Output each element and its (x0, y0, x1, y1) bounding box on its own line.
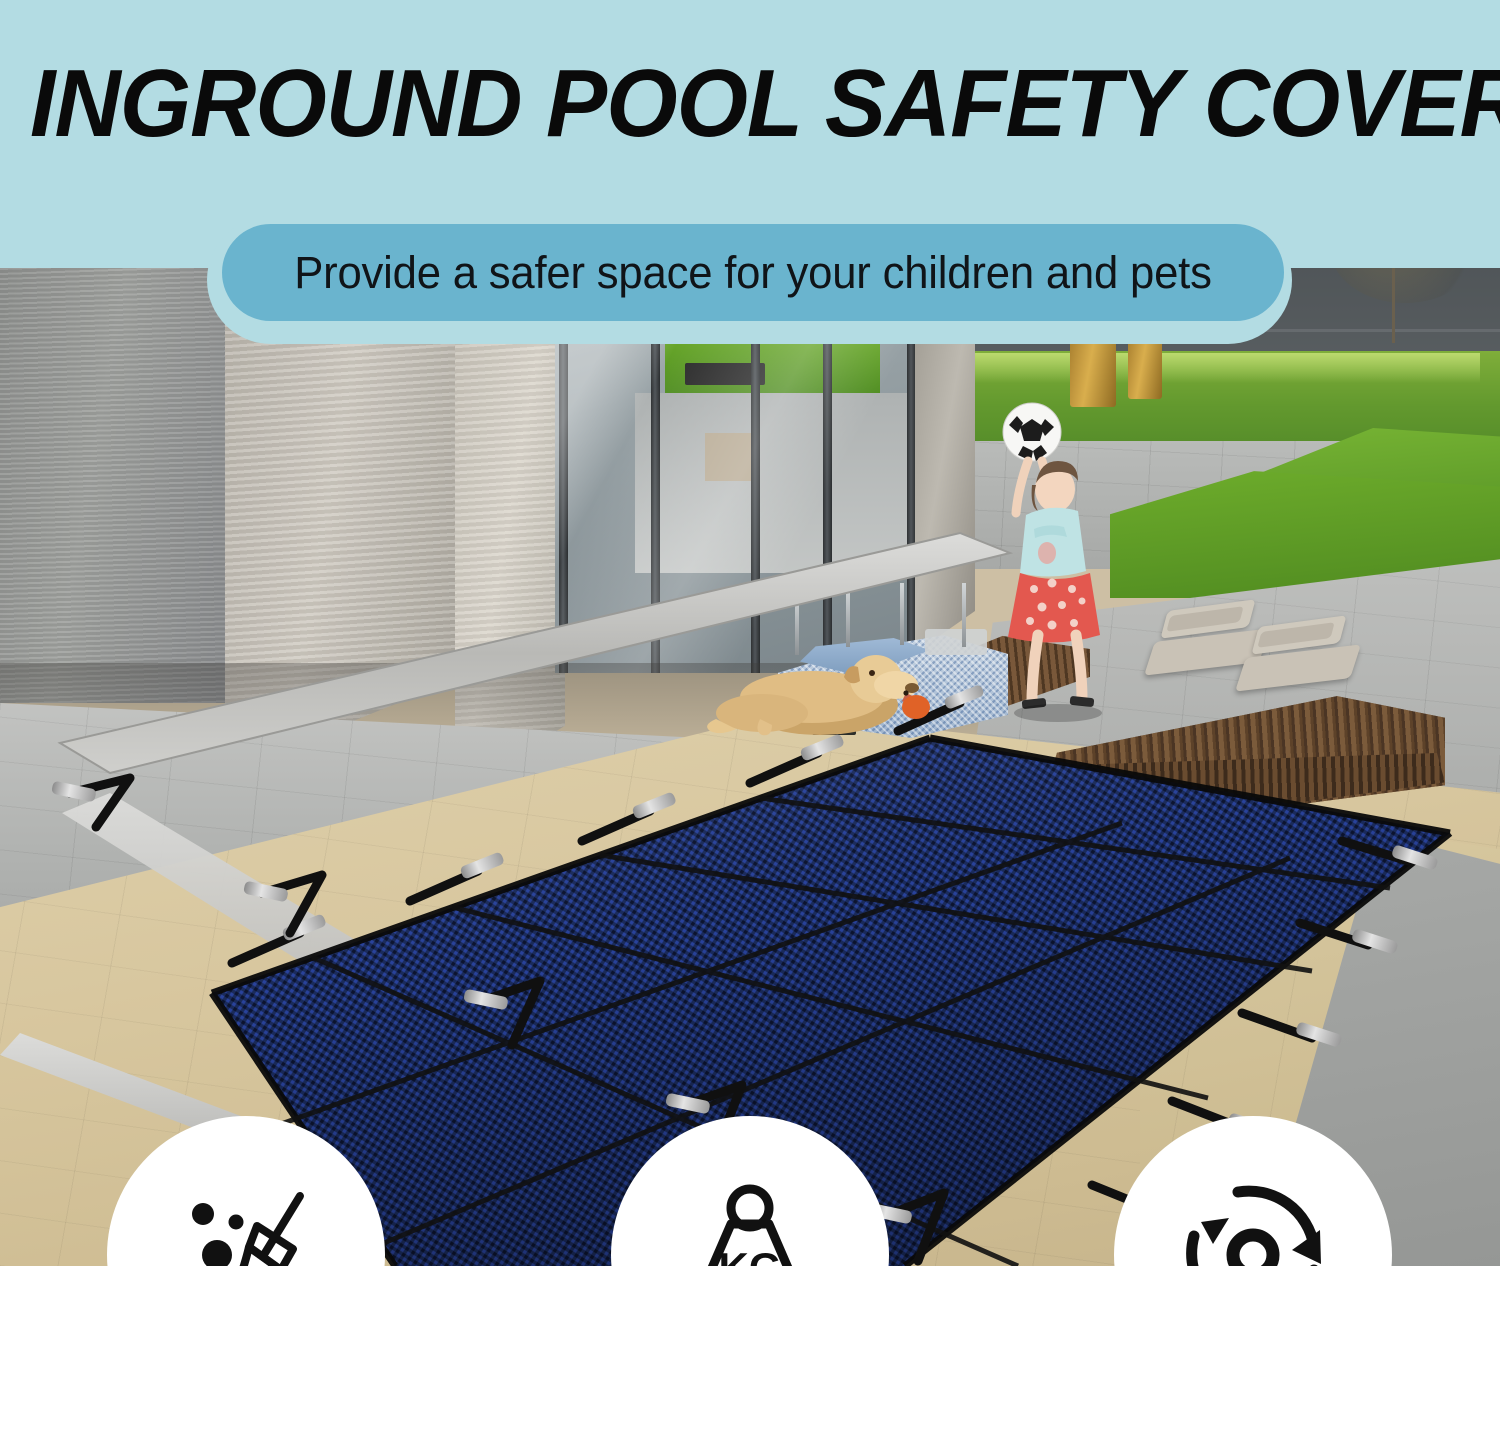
patio-table (925, 629, 987, 655)
handrail (962, 583, 966, 647)
feature-footer (0, 1266, 1500, 1444)
lounge-chair (1243, 621, 1373, 711)
subtitle-text: Provide a safer space for your children … (294, 247, 1212, 299)
handrail (795, 595, 799, 655)
handrail (846, 589, 850, 647)
pool-scene-photo (0, 233, 1500, 1266)
product-infographic: INGROUND POOL SAFETY COVERS Provide a sa… (0, 0, 1500, 1444)
planter-box (812, 703, 856, 735)
page-title: INGROUND POOL SAFETY COVERS (30, 56, 1410, 152)
handrail (900, 583, 904, 645)
subtitle-pill: Provide a safer space for your children … (222, 224, 1284, 321)
